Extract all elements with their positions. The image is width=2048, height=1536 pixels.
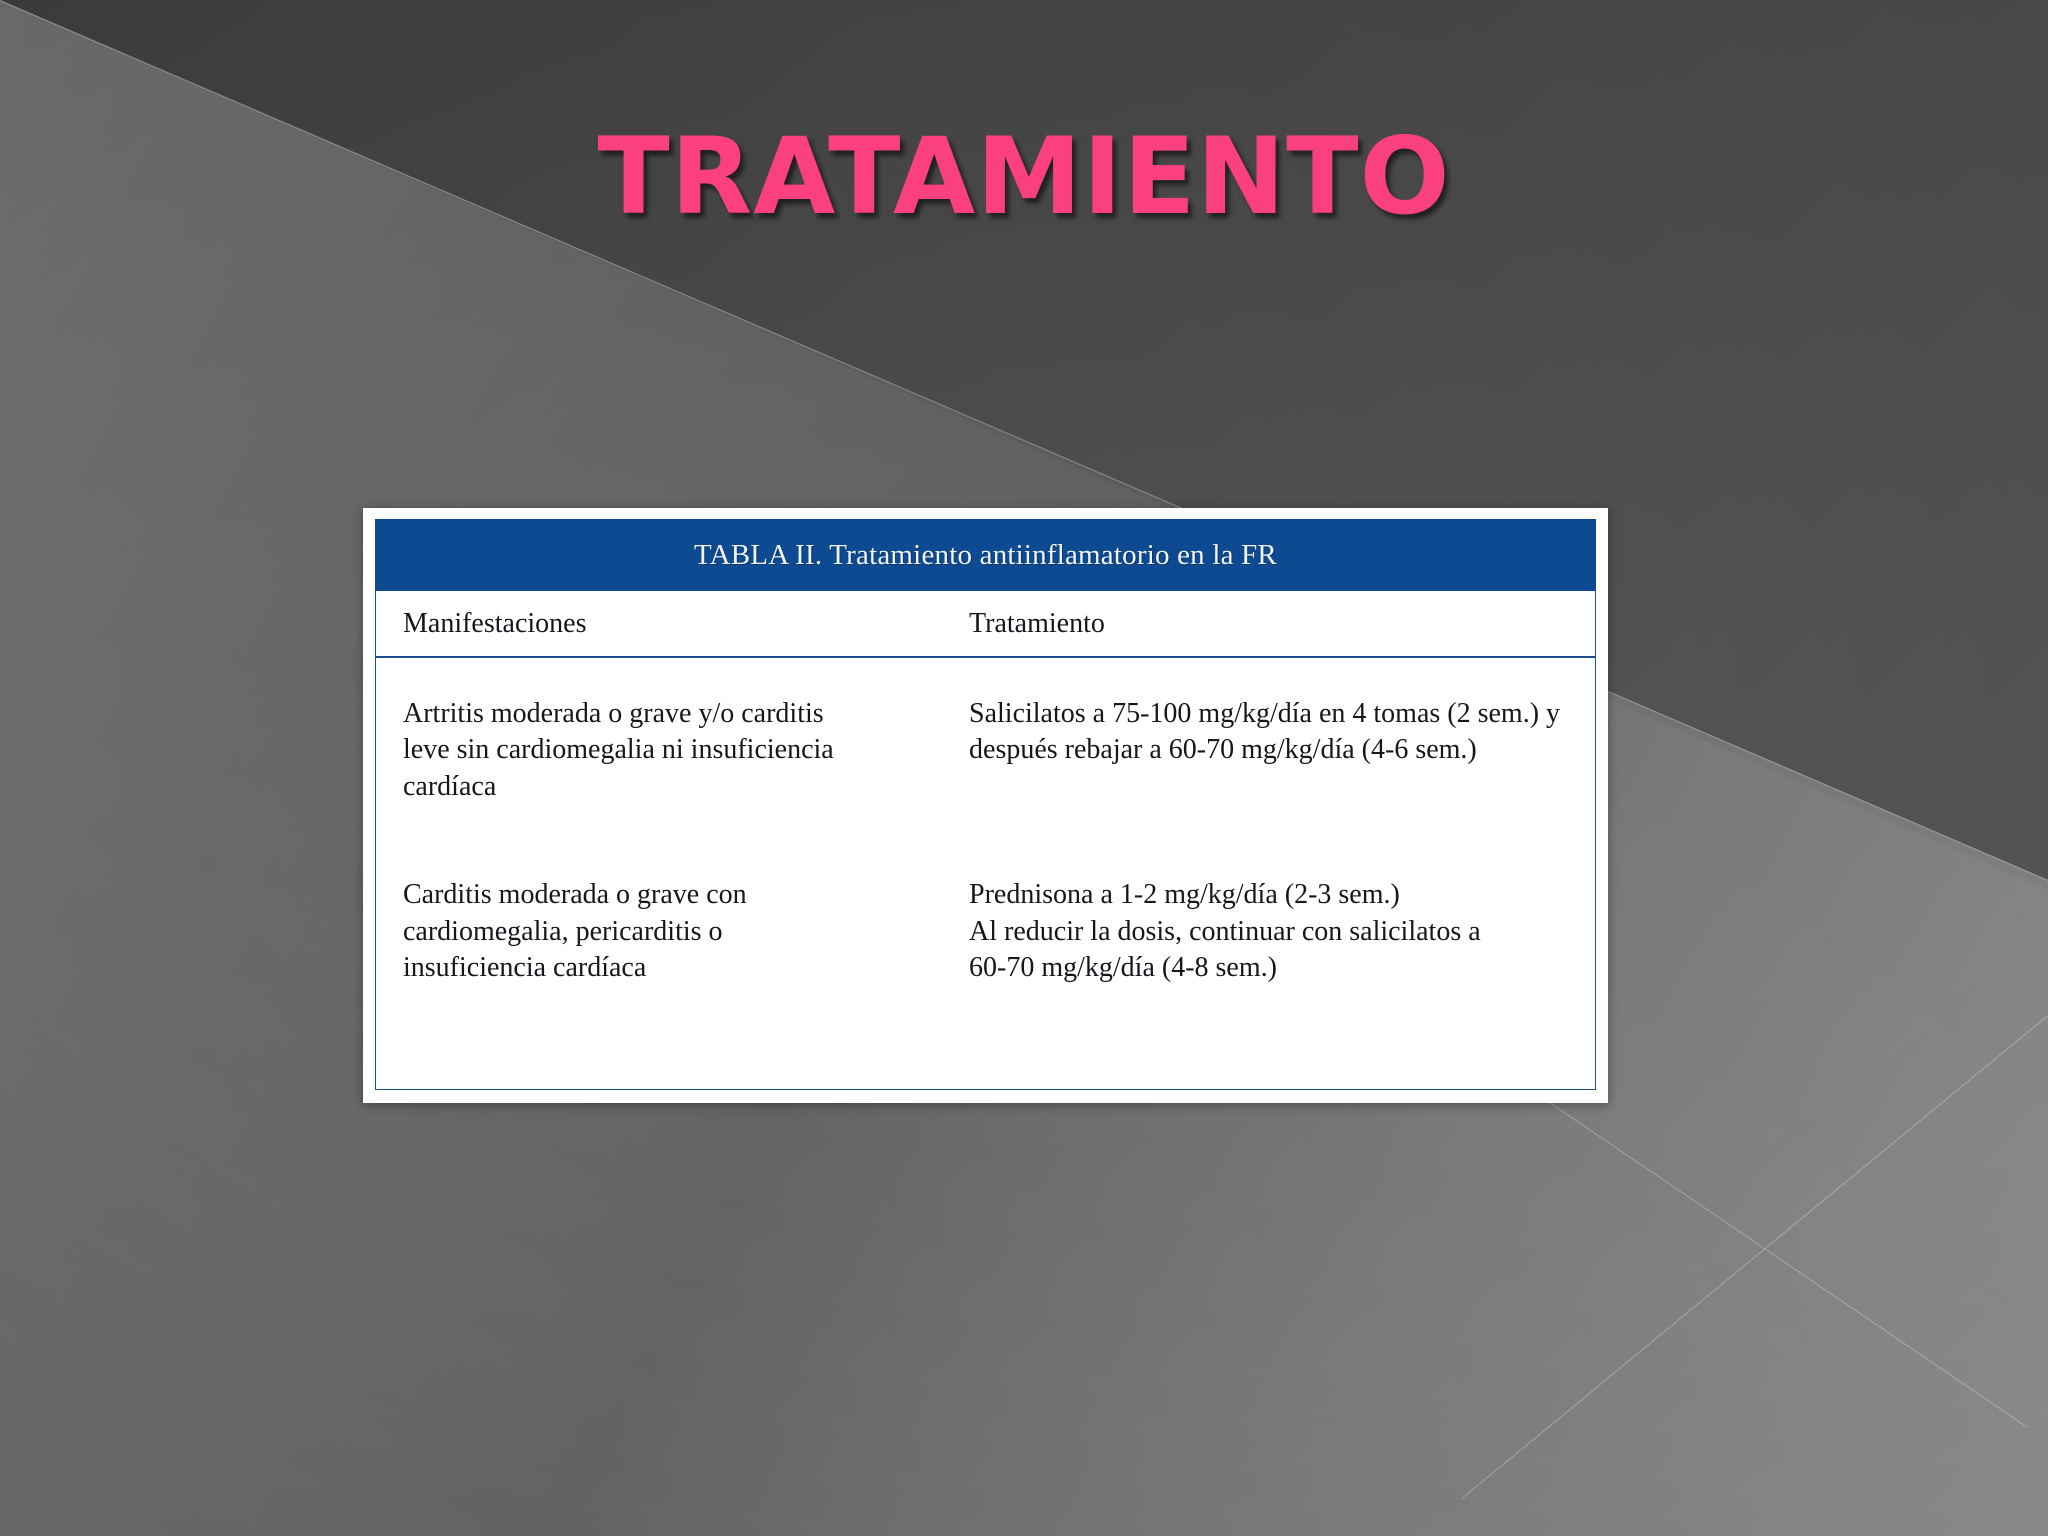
cell-line: Artritis moderada o grave y/o carditis <box>403 696 939 732</box>
column-header-tratamiento: Tratamiento <box>955 608 1595 640</box>
presentation-slide: TRATAMIENTO TABLA II. Tratamiento antiin… <box>0 0 2048 1536</box>
table-card: TABLA II. Tratamiento antiinflamatorio e… <box>363 508 1608 1103</box>
cell-line: 60-70 mg/kg/día (4-8 sem.) <box>969 950 1577 986</box>
cell-line: insuficiencia cardíaca <box>403 950 939 986</box>
slide-title: TRATAMIENTO <box>0 120 2048 234</box>
column-header-manifestaciones: Manifestaciones <box>376 608 955 640</box>
table-caption: TABLA II. Tratamiento antiinflamatorio e… <box>694 539 1277 572</box>
cell-manifestaciones: Carditis moderada o grave con cardiomega… <box>376 877 955 986</box>
cell-tratamiento: Prednisona a 1-2 mg/kg/día (2-3 sem.) Al… <box>955 877 1595 986</box>
cell-tratamiento: Salicilatos a 75-100 mg/kg/día en 4 toma… <box>955 696 1595 805</box>
table-column-header-row: Manifestaciones Tratamiento <box>376 591 1595 658</box>
table: TABLA II. Tratamiento antiinflamatorio e… <box>375 519 1596 1090</box>
cell-line: después rebajar a 60-70 mg/kg/día (4-6 s… <box>969 732 1577 768</box>
table-row: Artritis moderada o grave y/o carditis l… <box>376 658 1595 805</box>
table-row: Carditis moderada o grave con cardiomega… <box>376 805 1595 986</box>
table-body: Manifestaciones Tratamiento Artritis mod… <box>375 591 1596 1090</box>
cell-manifestaciones: Artritis moderada o grave y/o carditis l… <box>376 696 955 805</box>
cell-line: cardíaca <box>403 769 939 805</box>
cell-line: cardiomegalia, pericarditis o <box>403 914 939 950</box>
cell-line: leve sin cardiomegalia ni insuficiencia <box>403 732 939 768</box>
cell-line: Prednisona a 1-2 mg/kg/día (2-3 sem.) <box>969 877 1577 913</box>
cell-line: Al reducir la dosis, continuar con salic… <box>969 914 1577 950</box>
cell-line: Carditis moderada o grave con <box>403 877 939 913</box>
table-caption-bar: TABLA II. Tratamiento antiinflamatorio e… <box>375 519 1596 591</box>
cell-line: Salicilatos a 75-100 mg/kg/día en 4 toma… <box>969 696 1577 732</box>
